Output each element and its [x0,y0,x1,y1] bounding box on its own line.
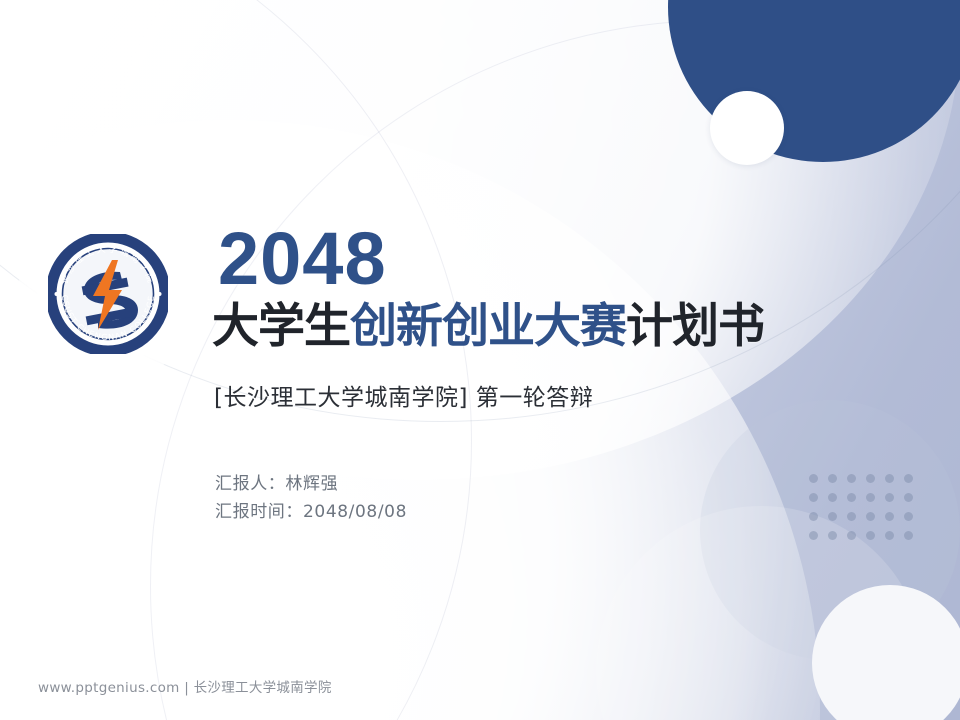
grid-dot [885,531,894,540]
grid-dot [828,531,837,540]
headline-segment-1: 大学生 [212,299,350,354]
grid-dot [904,531,913,540]
slide-headline: 大学生创新创业大赛计划书 [212,302,932,352]
presentation-slide: 长沙理工大学城南学院 CSUST CHENGNAN COLLEGE 2048 大… [0,0,960,720]
headline-segment-3: 计划书 [626,299,764,354]
decorative-white-circle-small [710,91,784,165]
presenter-line: 汇报人：林辉强 [215,470,932,498]
grid-dot [847,531,856,540]
slide-year: 2048 [218,222,932,296]
slide-subtitle: [长沙理工大学城南学院] 第一轮答辩 [214,378,932,412]
grid-dot [866,531,875,540]
report-date-line: 汇报时间：2048/08/08 [215,498,932,526]
slide-footer: www.pptgenius.com | 长沙理工大学城南学院 [38,676,332,696]
title-text-block: 2048 大学生创新创业大赛计划书 [长沙理工大学城南学院] 第一轮答辩 汇报人… [212,222,932,526]
university-logo: 长沙理工大学城南学院 CSUST CHENGNAN COLLEGE [32,218,184,370]
headline-segment-2: 创新创业大赛 [350,299,626,354]
university-emblem-icon: 长沙理工大学城南学院 CSUST CHENGNAN COLLEGE [48,234,168,354]
grid-dot [809,531,818,540]
